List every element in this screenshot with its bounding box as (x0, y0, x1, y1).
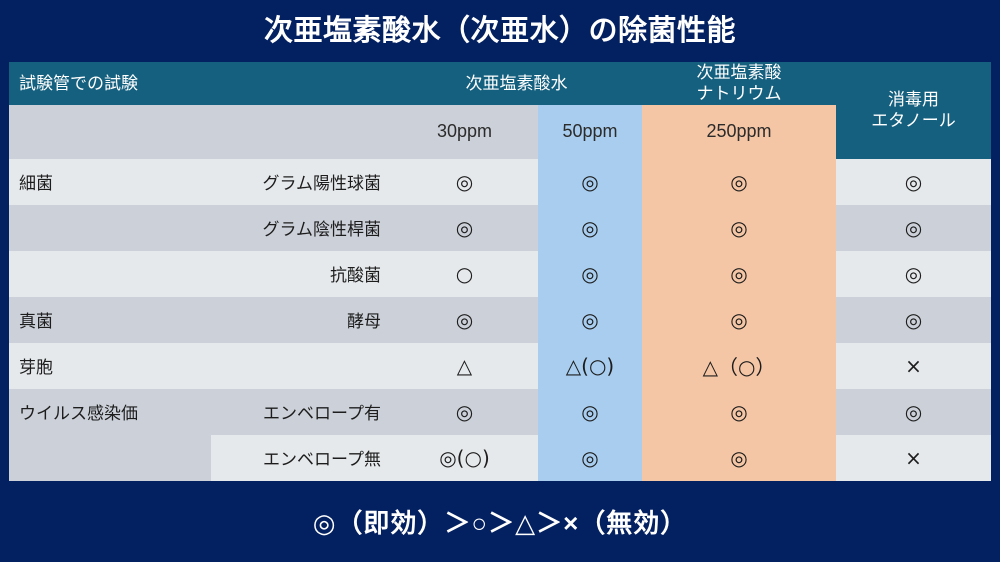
header-test-label: 試験管での試験 (9, 62, 211, 105)
row-group-label (9, 435, 211, 481)
subheader-conc-50ppm: 50ppm (538, 105, 642, 159)
cell-30ppm: △ (391, 343, 538, 389)
table-row: エンベロープ無 ◎(○) ◎ ◎ × (9, 435, 991, 481)
subheader-blank-b (211, 105, 391, 159)
row-group-label: 細菌 (9, 159, 211, 205)
legend-footer: ◎（即効）＞○＞△＞×（無効） (0, 481, 1000, 562)
row-group-label (9, 251, 211, 297)
row-group-label: ウイルス感染価 (9, 389, 211, 435)
header-blank-1 (211, 62, 391, 105)
cell-50ppm: ◎ (538, 389, 642, 435)
cell-250ppm: ◎ (642, 205, 836, 251)
cell-250ppm: ◎ (642, 297, 836, 343)
row-item-label: グラム陽性球菌 (211, 159, 391, 205)
cell-ethanol: × (836, 435, 991, 481)
row-item-label: 酵母 (211, 297, 391, 343)
table-row: 芽胞 △ △(○) △（○） × (9, 343, 991, 389)
row-item-label (211, 343, 391, 389)
header-ethanol-line2: エタノール (836, 110, 991, 131)
slide-root: 次亜塩素酸水（次亜水）の除菌性能 試験管での試験 次亜塩素酸水 次亜塩素酸 ナト… (0, 0, 1000, 562)
cell-30ppm: ◎(○) (391, 435, 538, 481)
cell-ethanol: ◎ (836, 205, 991, 251)
row-group-label: 芽胞 (9, 343, 211, 389)
header-sodium-hypochlorite: 次亜塩素酸 ナトリウム (642, 62, 836, 105)
cell-250ppm: ◎ (642, 435, 836, 481)
cell-250ppm: △（○） (642, 343, 836, 389)
cell-30ppm: ○ (391, 251, 538, 297)
cell-250ppm: ◎ (642, 159, 836, 205)
header-sodium-hypochlorite-line2: ナトリウム (642, 83, 836, 104)
table-row: 細菌 グラム陽性球菌 ◎ ◎ ◎ ◎ (9, 159, 991, 205)
row-item-label: グラム陰性桿菌 (211, 205, 391, 251)
cell-30ppm: ◎ (391, 297, 538, 343)
cell-ethanol: ◎ (836, 251, 991, 297)
row-group-label: 真菌 (9, 297, 211, 343)
cell-30ppm: ◎ (391, 159, 538, 205)
table-row: 真菌 酵母 ◎ ◎ ◎ ◎ (9, 297, 991, 343)
header-ethanol-line1: 消毒用 (836, 89, 991, 110)
cell-50ppm: ◎ (538, 205, 642, 251)
row-item-label: 抗酸菌 (211, 251, 391, 297)
subheader-conc-250ppm: 250ppm (642, 105, 836, 159)
cell-50ppm: ◎ (538, 435, 642, 481)
cell-30ppm: ◎ (391, 389, 538, 435)
table-container: 試験管での試験 次亜塩素酸水 次亜塩素酸 ナトリウム 消毒用 エタノール 30p… (9, 62, 991, 481)
table-header-row-1: 試験管での試験 次亜塩素酸水 次亜塩素酸 ナトリウム 消毒用 エタノール (9, 62, 991, 105)
cell-50ppm: ◎ (538, 251, 642, 297)
cell-50ppm: ◎ (538, 159, 642, 205)
cell-ethanol: ◎ (836, 297, 991, 343)
cell-50ppm: ◎ (538, 297, 642, 343)
page-title: 次亜塩素酸水（次亜水）の除菌性能 (0, 0, 1000, 62)
cell-30ppm: ◎ (391, 205, 538, 251)
cell-250ppm: ◎ (642, 389, 836, 435)
cell-ethanol: ◎ (836, 389, 991, 435)
table-row: 抗酸菌 ○ ◎ ◎ ◎ (9, 251, 991, 297)
cell-ethanol: × (836, 343, 991, 389)
cell-ethanol: ◎ (836, 159, 991, 205)
header-disinfectant-ethanol: 消毒用 エタノール (836, 62, 991, 159)
row-item-label: エンベロープ有 (211, 389, 391, 435)
header-hypochlorous-acid-water: 次亜塩素酸水 (391, 62, 642, 105)
performance-table: 試験管での試験 次亜塩素酸水 次亜塩素酸 ナトリウム 消毒用 エタノール 30p… (9, 62, 991, 481)
subheader-blank-a (9, 105, 211, 159)
header-sodium-hypochlorite-line1: 次亜塩素酸 (642, 62, 836, 83)
table-row: グラム陰性桿菌 ◎ ◎ ◎ ◎ (9, 205, 991, 251)
subheader-conc-30ppm: 30ppm (391, 105, 538, 159)
row-item-label: エンベロープ無 (211, 435, 391, 481)
cell-50ppm: △(○) (538, 343, 642, 389)
cell-250ppm: ◎ (642, 251, 836, 297)
table-row: ウイルス感染価 エンベロープ有 ◎ ◎ ◎ ◎ (9, 389, 991, 435)
row-group-label (9, 205, 211, 251)
